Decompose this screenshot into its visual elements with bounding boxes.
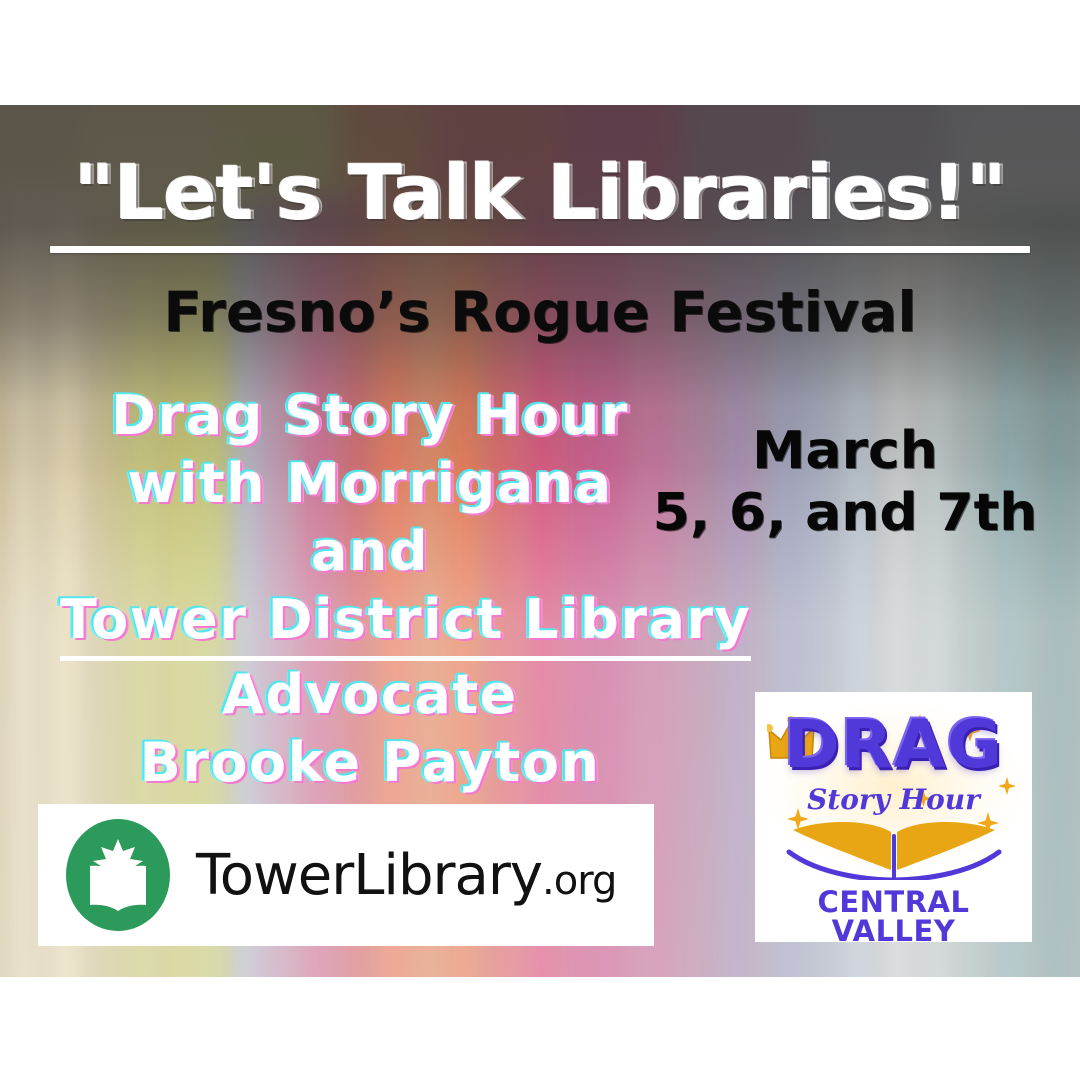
book-star-glyph [66, 819, 170, 931]
dsh-story-hour-word: Story Hour [755, 786, 1032, 814]
performer-line: and [60, 518, 680, 586]
tower-library-logo-card[interactable]: TowerLibrary.org [38, 804, 654, 946]
wordmark-text: TowerLibrary [196, 843, 542, 908]
poster-canvas: "Let's Talk Libraries!" Fresno’s Rogue F… [0, 0, 1080, 1080]
performer-line: Brooke Payton [60, 729, 680, 797]
performer-line: Drag Story Hour [60, 382, 680, 450]
content-layer: "Let's Talk Libraries!" Fresno’s Rogue F… [0, 0, 1080, 1080]
wordmark-tld: .org [542, 858, 616, 904]
date-line: March [613, 420, 1077, 482]
open-book-icon [783, 818, 1005, 880]
drag-story-hour-logo-card[interactable]: DRAG Story Hour CENTRAL VALLEY [755, 692, 1032, 942]
open-book-with-star-in-green-circle-icon [66, 819, 170, 931]
tower-library-wordmark: TowerLibrary.org [196, 843, 616, 908]
performer-line: Advocate [60, 661, 680, 729]
performer-line: Tower District Library [60, 586, 680, 661]
performer-list: Drag Story Hourwith MorriganaandTower Di… [60, 382, 680, 797]
title-underline [50, 246, 1030, 253]
event-subtitle: Fresno’s Rogue Festival [0, 285, 1080, 340]
dsh-drag-word: DRAG [752, 712, 1035, 778]
dsh-region-label: CENTRAL VALLEY [755, 888, 1032, 946]
date-line: 5, 6, and 7th [613, 482, 1077, 544]
page-title: "Let's Talk Libraries!" [0, 155, 1080, 231]
performer-line-underlined: Tower District Library [60, 586, 751, 661]
performer-line: with Morrigana [60, 450, 680, 518]
event-dates: March5, 6, and 7th [613, 420, 1077, 544]
